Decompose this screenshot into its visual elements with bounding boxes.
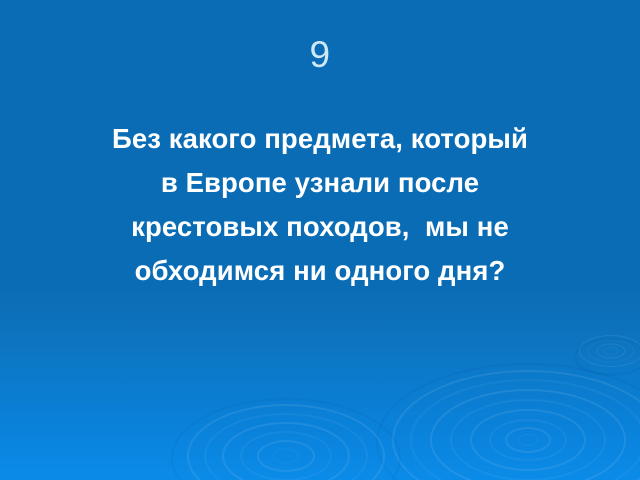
question-line-2: в Европе узнали после xyxy=(30,161,610,205)
slide-number-title: 9 xyxy=(0,36,640,73)
question-line-1: Без какого предмета, который xyxy=(30,117,610,161)
question-line-3: крестовых походов, мы не xyxy=(30,205,610,249)
question-text-block: Без какого предмета, который в Европе уз… xyxy=(30,117,610,293)
question-line-4: обходимся ни одного дня? xyxy=(30,249,610,293)
quiz-slide: 9 Без какого предмета, который в Европе … xyxy=(0,0,640,480)
